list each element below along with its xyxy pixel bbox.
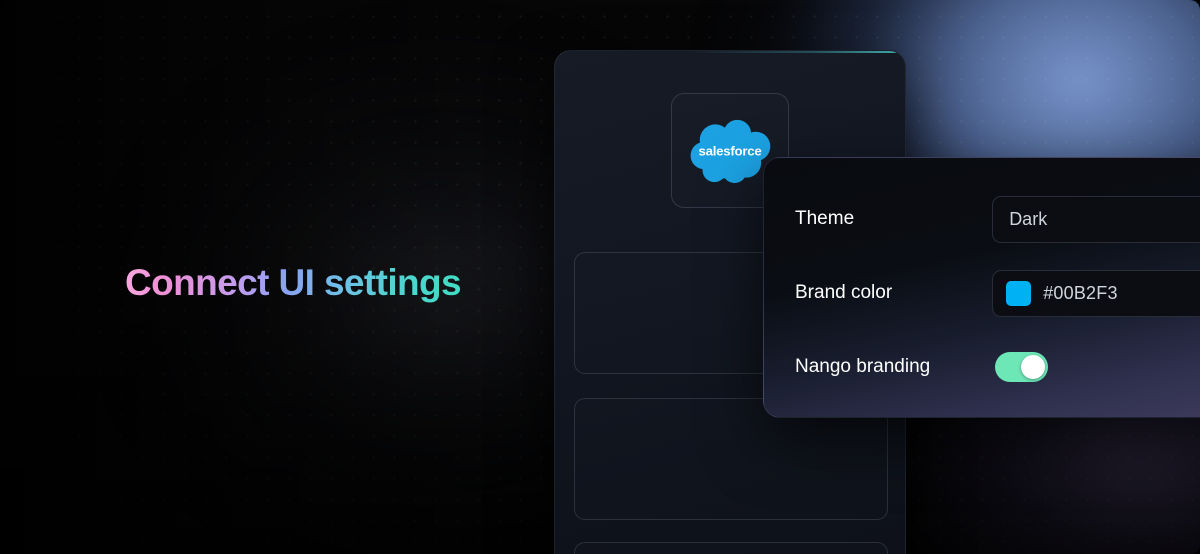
nango-branding-toggle[interactable] bbox=[995, 352, 1048, 382]
page-title: Connect UI settings bbox=[125, 262, 461, 304]
salesforce-wordmark: salesforce bbox=[699, 143, 762, 158]
setting-row-theme: Theme Dark bbox=[795, 199, 1200, 239]
brand-color-label: Brand color bbox=[795, 282, 992, 304]
theme-select[interactable]: Dark bbox=[992, 196, 1200, 243]
promo-graphic: Connect UI settings salesforce bbox=[0, 0, 1200, 554]
brand-color-input[interactable]: #00B2F3 bbox=[992, 270, 1200, 317]
setting-row-brand-color: Brand color #00B2F3 bbox=[795, 273, 1200, 313]
list-item[interactable] bbox=[574, 542, 888, 554]
toggle-knob bbox=[1021, 355, 1045, 379]
setting-row-nango-branding: Nango branding bbox=[795, 347, 1200, 387]
theme-select-value: Dark bbox=[1009, 209, 1047, 230]
brand-color-swatch[interactable] bbox=[1006, 281, 1031, 306]
nango-branding-label: Nango branding bbox=[795, 356, 995, 378]
brand-color-value: #00B2F3 bbox=[1043, 283, 1117, 304]
connect-ui-settings-panel: Theme Dark Brand color #00B2F3 Nango bra… bbox=[763, 157, 1200, 418]
theme-label: Theme bbox=[795, 208, 992, 230]
